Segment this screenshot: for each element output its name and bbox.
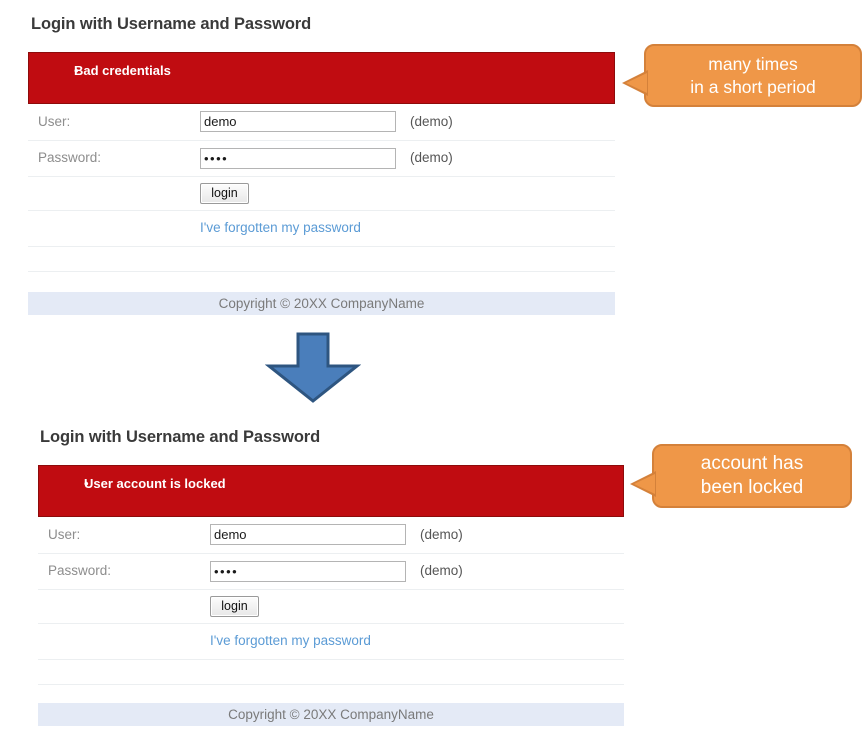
page-title: Login with Username and Password (40, 428, 320, 447)
form-row-user: User: (demo) (38, 517, 624, 553)
user-hint: (demo) (410, 114, 453, 129)
page-title: Login with Username and Password (31, 15, 311, 34)
footer-bar: Copyright © 20XX CompanyName (38, 703, 624, 726)
user-hint: (demo) (420, 527, 463, 542)
form-row-forgot: I've forgotten my password (38, 623, 624, 659)
password-label: Password: (38, 150, 101, 165)
error-message: Bad credentials (74, 63, 614, 78)
user-label: User: (48, 527, 80, 542)
footer-bar: Copyright © 20XX CompanyName (28, 292, 615, 315)
form-row-submit: login (38, 589, 624, 623)
user-label: User: (38, 114, 70, 129)
password-hint: (demo) (420, 563, 463, 578)
login-form: User: (demo) Password: (demo) login (38, 517, 624, 685)
form-row-user: User: (demo) (28, 104, 615, 140)
down-arrow-svg (265, 332, 361, 404)
callout-account-locked: account has been locked (652, 444, 852, 508)
form-row-spacer (28, 246, 615, 271)
error-message: User account is locked (84, 476, 623, 491)
login-button[interactable]: login (200, 183, 249, 204)
password-label: Password: (48, 563, 111, 578)
user-input[interactable] (210, 524, 406, 545)
login-panel-before: Login with Username and Password Bad cre… (28, 6, 618, 316)
form-row-submit: login (28, 176, 615, 210)
error-banner: Bad credentials (28, 52, 615, 104)
user-input[interactable] (200, 111, 396, 132)
form-row-forgot: I've forgotten my password (28, 210, 615, 246)
form-row-password: Password: (demo) (28, 140, 615, 176)
form-row-password: Password: (demo) (38, 553, 624, 589)
error-list: User account is locked (39, 476, 623, 491)
callout-line-1: account has (701, 452, 803, 476)
login-form: User: (demo) Password: (demo) login (28, 104, 615, 272)
login-panel-after: Login with Username and Password User ac… (38, 419, 624, 729)
callout-line-2: in a short period (690, 76, 816, 98)
password-hint: (demo) (410, 150, 453, 165)
error-list: Bad credentials (29, 63, 614, 78)
callout-many-times: many times in a short period (644, 44, 862, 107)
callout-line-1: many times (708, 53, 797, 75)
form-row-spacer (38, 659, 624, 684)
forgot-password-link[interactable]: I've forgotten my password (210, 633, 371, 648)
password-input[interactable] (200, 148, 396, 169)
down-arrow-icon (265, 332, 361, 404)
callout-line-2: been locked (701, 476, 803, 500)
login-button[interactable]: login (210, 596, 259, 617)
forgot-password-link[interactable]: I've forgotten my password (200, 220, 361, 235)
password-input[interactable] (210, 561, 406, 582)
error-banner: User account is locked (38, 465, 624, 517)
